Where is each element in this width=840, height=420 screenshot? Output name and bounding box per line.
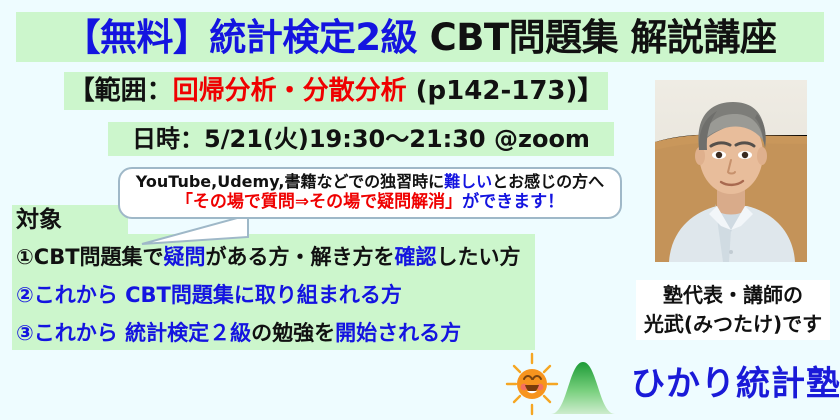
target-item-segment: がある方・解き方を [206, 245, 395, 269]
scope-line: 【範囲：回帰分析・分散分析 (p142-173)】 [69, 78, 604, 104]
target-item-segment: CBT問題集で [34, 245, 164, 269]
target-item-number: ③ [16, 321, 34, 345]
callout-l1-part1: YouTube,Udemy,書籍などでの独習時に [136, 172, 444, 191]
callout-box: YouTube,Udemy,書籍などでの独習時に難しいとお感じの方へ 「その場で… [118, 167, 622, 219]
title-free-label: 【無料】統計検定2級 [63, 16, 417, 59]
target-item-segment: したい方 [437, 245, 521, 269]
callout-l2-part2: ができます！ [462, 192, 564, 212]
target-heading-label: 対象 [16, 206, 62, 234]
scope-band: 【範囲：回帰分析・分散分析 (p142-173)】 [64, 72, 608, 110]
instructor-caption: 塾代表・講師の 光武(みつたけ)です [636, 280, 830, 340]
scope-topics: 回帰分析・分散分析 [173, 76, 407, 106]
target-item-segment: これから [34, 321, 125, 345]
callout-l1-highlight: 難しい [444, 172, 492, 191]
scope-pages: (p142-173)】 [407, 76, 604, 106]
target-item-segment: 統計検定２級 [125, 321, 251, 345]
instructor-name-label: 光武(みつたけ)です [644, 310, 822, 339]
target-list: ①CBT問題集で疑問がある方・解き方を確認したい方 ②これから CBT問題集に取… [16, 238, 536, 352]
callout-line-1: YouTube,Udemy,書籍などでの独習時に難しいとお感じの方へ [136, 172, 604, 192]
target-item-segment: に [234, 283, 255, 307]
target-item-segment: これから [34, 283, 125, 307]
target-item-number: ② [16, 283, 34, 307]
target-item-segment: の勉強を [251, 321, 335, 345]
target-item-number: ① [16, 245, 34, 269]
datetime-band: 日時：5/21(火)19:30〜21:30 @zoom [108, 122, 614, 156]
normal-distribution-curve-icon [551, 362, 615, 414]
target-item-segment: CBT問題集 [125, 283, 234, 307]
title-main-label: CBT問題集 解説講座 [417, 16, 776, 59]
title-band: 【無料】統計検定2級 CBT問題集 解説講座 [16, 12, 824, 62]
target-list-item: ③これから 統計検定２級の勉強を開始される方 [16, 314, 536, 352]
target-item-segment: 開始される方 [335, 321, 461, 345]
brand-name-label: ひかり統計塾 [631, 356, 840, 412]
scope-prefix: 【範囲： [69, 76, 173, 106]
datetime-label: 日時：5/21(火)19:30〜21:30 @zoom [132, 127, 590, 151]
callout-l1-part2: とお感じの方へ [492, 172, 604, 191]
target-item-segment: 疑問 [164, 245, 206, 269]
callout-l2-highlight: 「その場で質問⇒その場で疑問解消」 [176, 192, 462, 212]
poster-root: 【無料】統計検定2級 CBT問題集 解説講座 【範囲：回帰分析・分散分析 (p1… [0, 0, 840, 420]
brand-logo: ひかり統計塾 [505, 352, 835, 418]
logo-mark-graphic [505, 352, 635, 418]
target-item-segment: 確認 [395, 245, 437, 269]
target-item-segment: 取り組まれる方 [255, 283, 402, 307]
callout-line-2: 「その場で質問⇒その場で疑問解消」ができます！ [176, 192, 564, 213]
target-list-item: ①CBT問題集で疑問がある方・解き方を確認したい方 [16, 238, 536, 276]
sun-face-icon [517, 369, 547, 399]
instructor-photo-graphic [655, 80, 807, 262]
instructor-role-label: 塾代表・講師の [663, 281, 803, 310]
page-title: 【無料】統計検定2級 CBT問題集 解説講座 [63, 19, 776, 56]
instructor-photo [655, 80, 807, 262]
target-list-item: ②これから CBT問題集に取り組まれる方 [16, 276, 536, 314]
